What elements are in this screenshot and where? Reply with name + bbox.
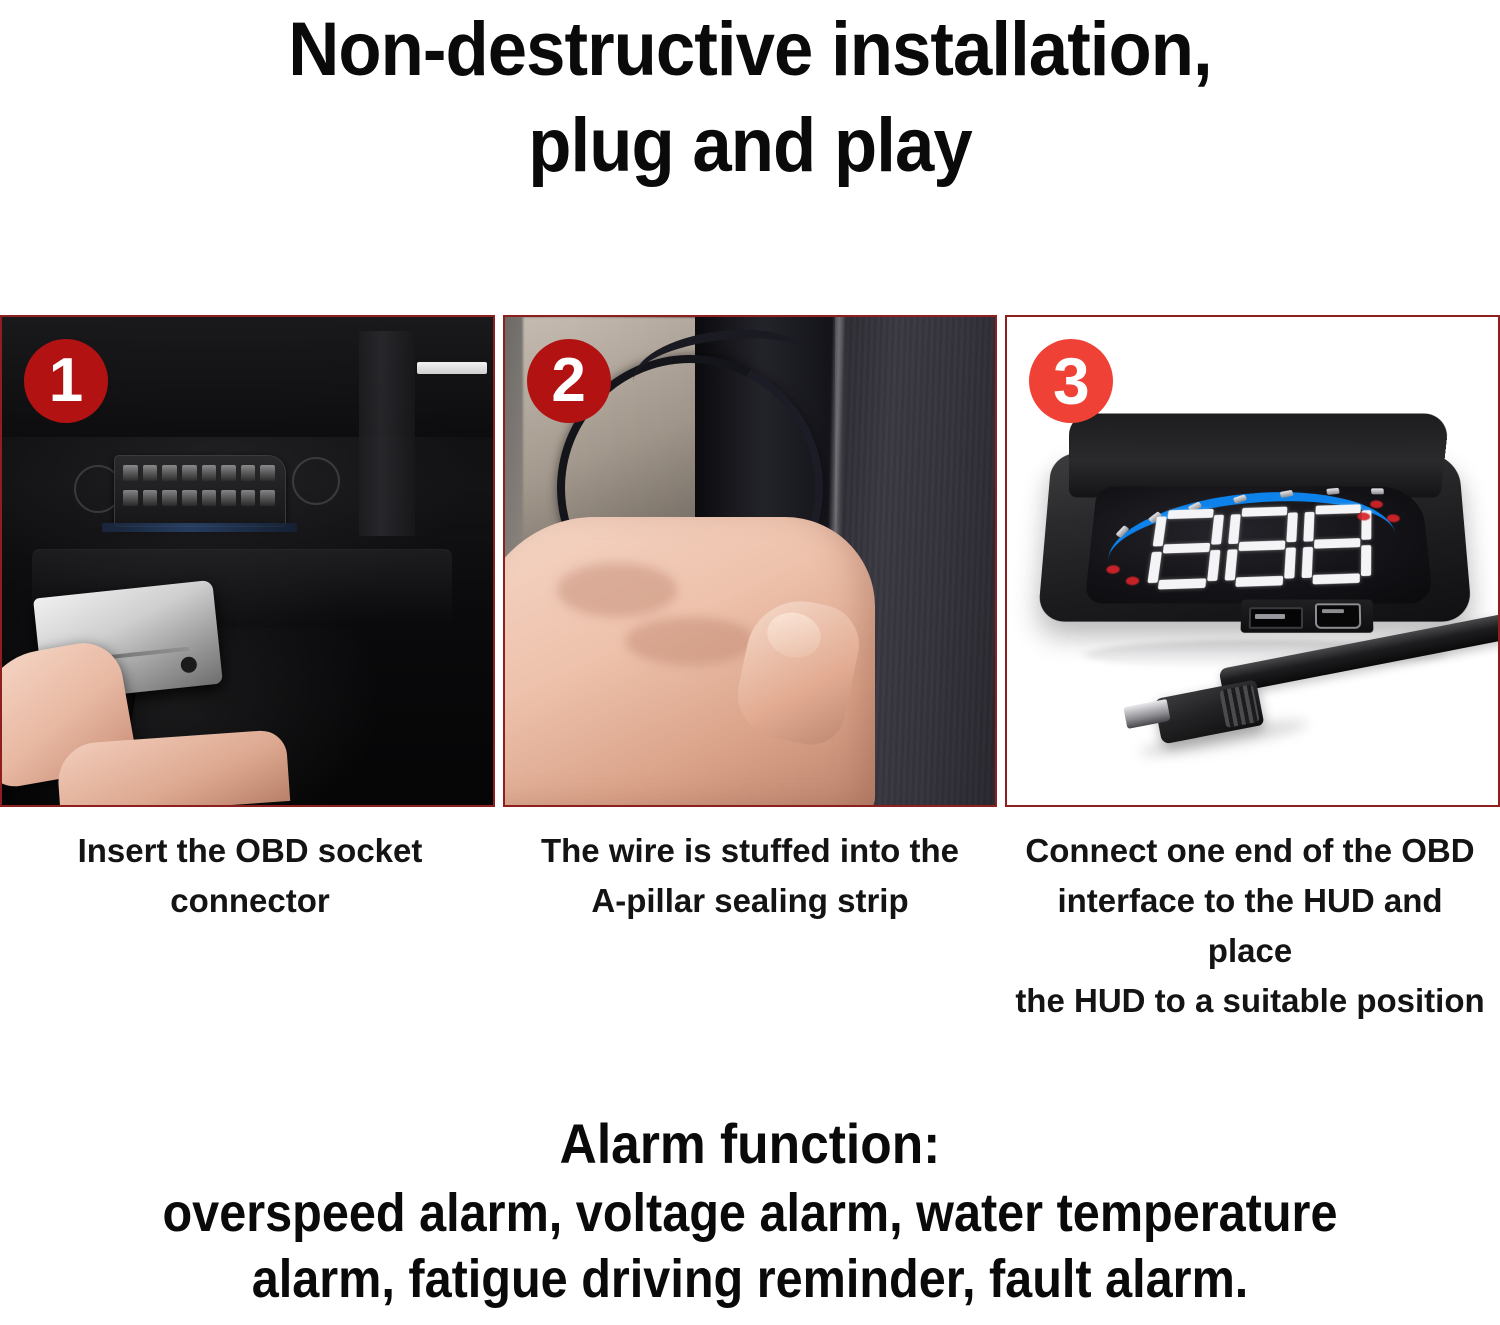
obd-socket-lip [102,523,297,532]
step-3-caption: Connect one end of the OBD interface to … [1000,826,1500,996]
hud-screen [1085,487,1434,604]
alarm-function-block: Alarm function: overspeed alarm, voltage… [0,1108,1500,1312]
hud-seven-segment-display [1147,504,1372,590]
arc-tick [1116,525,1130,538]
panel-divider [495,315,503,807]
alarm-function-heading: Alarm function: [60,1108,1440,1180]
dashboard-fastener-right [292,457,340,505]
obd-pin-row-top [123,465,275,481]
obd-pin [143,465,158,481]
step-captions: Insert the OBD socket connector The wire… [0,826,1500,996]
hud-digit [1147,509,1225,590]
alarm-function-line-1: overspeed alarm, voltage alarm, water te… [75,1180,1425,1246]
arc-tick [1327,488,1340,495]
arc-tick [1233,494,1247,504]
hud-port-block [1241,599,1374,632]
step-badge-1: 1 [24,339,108,423]
indicator-dot [1126,577,1140,586]
step-badge-3: 3 [1029,339,1113,423]
installation-steps-gallery: 1 2 [0,315,1500,807]
obd-pin [123,490,138,506]
obd-pin [162,490,177,506]
caption-line: Insert the OBD socket [14,826,486,876]
step-2-caption: The wire is stuffed into the A-pillar se… [500,826,1000,996]
hud-reflector-wall [1069,413,1450,497]
plug-strain-relief [1219,684,1260,728]
obd-socket [114,455,286,527]
white-label-tab [417,362,487,374]
mini-usb-port [1315,603,1361,628]
obd-pin [260,490,275,506]
plug-screw-hole [180,656,198,674]
indicator-dot [1370,500,1383,508]
indicator-dot [1387,514,1400,522]
step-3-photo: 3 [1005,315,1500,807]
indicator-dot [1106,565,1120,574]
panel-divider [997,315,1005,807]
obd-pin [241,465,256,481]
arc-tick [1371,488,1384,494]
caption-line: The wire is stuffed into the [514,826,986,876]
obd-pin-row-bottom [123,490,275,506]
page-title-line-1: Non-destructive installation, [53,2,1448,98]
hud-warning-indicators-right [1357,500,1416,530]
obd-pin [202,465,217,481]
hud-digit [1224,506,1298,587]
caption-line: Connect one end of the OBD [1014,826,1486,876]
caption-line: connector [14,876,486,926]
obd-pin [182,490,197,506]
obd-pin [221,490,236,506]
obd-pin [123,465,138,481]
hud-device [1045,413,1465,643]
caption-line: the HUD to a suitable position [1014,976,1486,1026]
page-title: Non-destructive installation, plug and p… [0,0,1500,194]
hud-warning-indicators-left [1105,565,1158,590]
obd-pin [182,465,197,481]
step-2-photo: 2 [503,315,998,807]
caption-line: interface to the HUD and place [1014,876,1486,976]
knuckle-shadow [557,563,677,617]
obd-pin [202,490,217,506]
knuckle-shadow [625,617,755,665]
obd-pin [260,465,275,481]
obd-pin [162,465,177,481]
obd-pin [221,465,236,481]
obd-pin [143,490,158,506]
arc-tick [1280,490,1294,498]
indicator-dot [1357,513,1370,521]
usb-port [1249,607,1303,629]
step-badge-2: 2 [527,339,611,423]
step-1-photo: 1 [0,315,495,807]
page-title-line-2: plug and play [53,98,1448,194]
obd-pin [241,490,256,506]
dashboard-panel-edge [359,331,415,536]
alarm-function-line-2: alarm, fatigue driving reminder, fault a… [75,1246,1425,1312]
caption-line: A-pillar sealing strip [514,876,986,926]
step-1-caption: Insert the OBD socket connector [0,826,500,996]
